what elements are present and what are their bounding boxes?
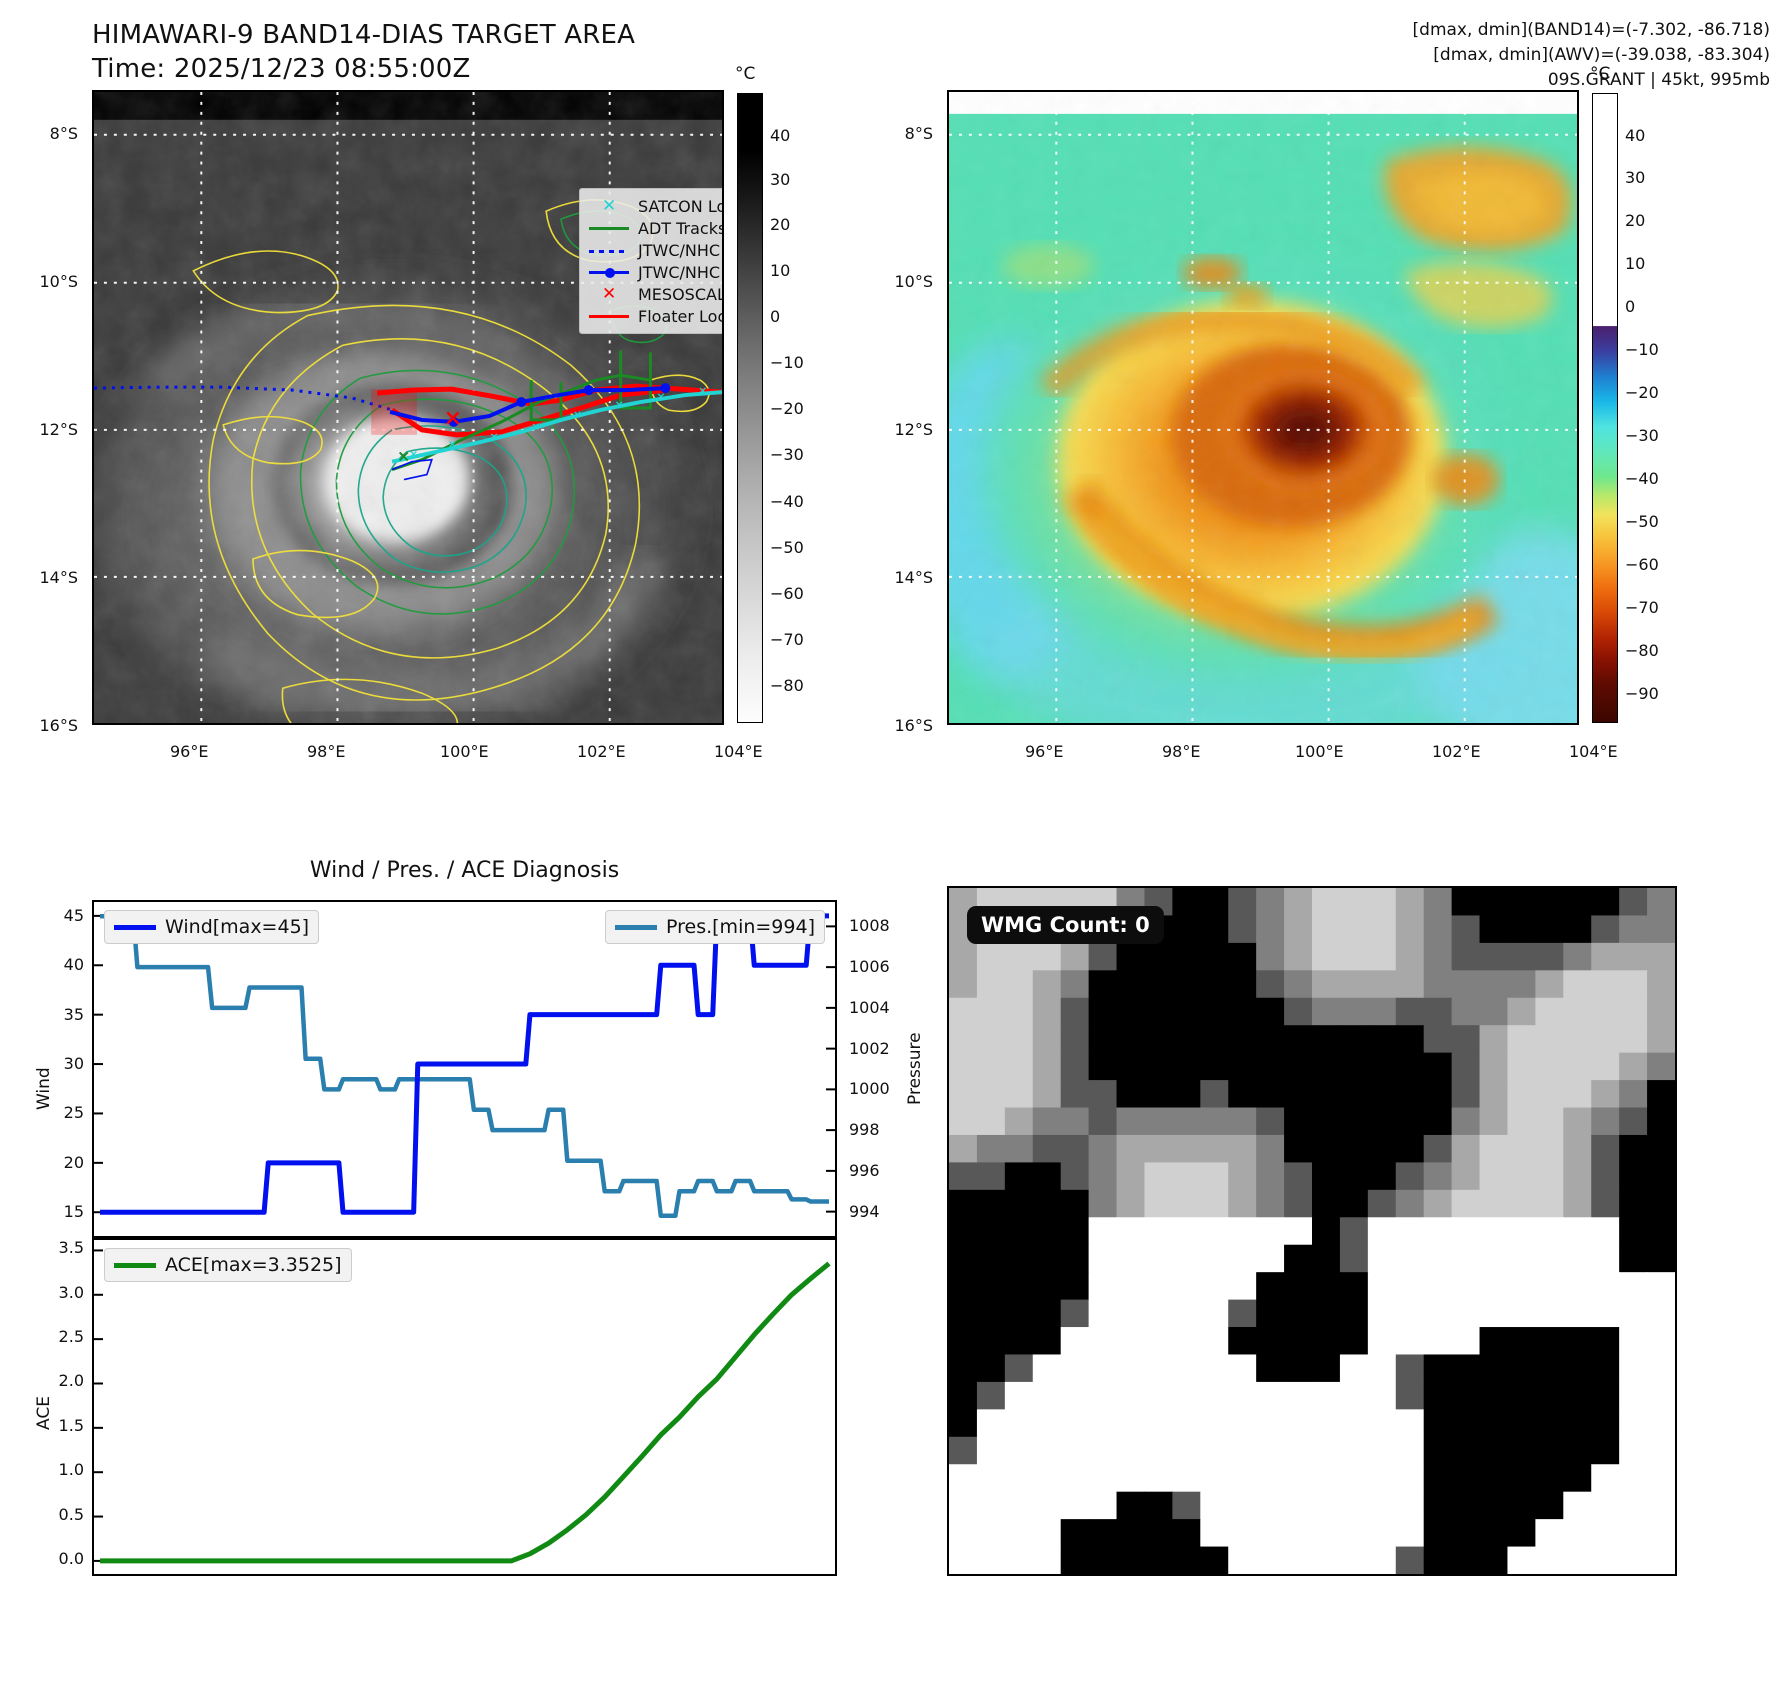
ir-colorbar-unit: °C bbox=[735, 64, 755, 84]
ir-lat-tick-3: 14°S bbox=[20, 568, 78, 587]
ir-cb-tick-5: −10 bbox=[770, 353, 804, 372]
wind-legend-label: Wind[max=45] bbox=[165, 916, 309, 938]
floater-line-icon bbox=[586, 306, 632, 326]
ir-cb-tick-12: −80 bbox=[770, 676, 804, 695]
color-lat-tick-3: 14°S bbox=[875, 568, 933, 587]
pressure-ytick: 996 bbox=[849, 1161, 880, 1180]
ir-image: ××× ××× ×× × × bbox=[94, 92, 722, 723]
ir-lat-tick-4: 16°S bbox=[20, 716, 78, 735]
wind-pressure-chart[interactable]: 15202530354045 Wind[max=45] Pres.[min=99… bbox=[92, 900, 837, 1238]
ir-cb-tick-6: −20 bbox=[770, 399, 804, 418]
color-cb-tick-1: 30 bbox=[1625, 168, 1645, 187]
ace-ytick: 2.0 bbox=[44, 1371, 84, 1390]
color-cb-tick-13: −90 bbox=[1625, 684, 1659, 703]
ir-satellite-panel[interactable]: ××× ××× ×× × × ✕ SATCON Locations [0730Z… bbox=[92, 90, 724, 725]
jtwc-line-dot-icon bbox=[586, 262, 632, 282]
ace-legend[interactable]: ACE[max=3.3525] bbox=[104, 1248, 352, 1282]
pressure-ytick: 994 bbox=[849, 1202, 880, 1221]
color-lon-tick-3: 102°E bbox=[1432, 742, 1481, 761]
ace-chart[interactable]: ACE[max=3.3525] bbox=[92, 1238, 837, 1576]
color-lon-tick-1: 98°E bbox=[1162, 742, 1200, 761]
ir-cb-tick-11: −70 bbox=[770, 630, 804, 649]
color-cb-tick-8: −40 bbox=[1625, 469, 1659, 488]
legend-label-forecast: JTWC/NHC Forecast [23/0000Z] bbox=[638, 241, 724, 260]
legend-row-adt[interactable]: ADT Tracks [0800Z 53.0 993.9] bbox=[586, 217, 724, 239]
legend-label-jtwc-tracks: JTWC/NHC Tracks [23/0600Z] bbox=[638, 263, 724, 282]
svg-text:×: × bbox=[531, 420, 540, 433]
color-lat-tick-2: 12°S bbox=[875, 420, 933, 439]
title-line-1: HIMAWARI-9 BAND14-DIAS TARGET AREA bbox=[92, 18, 852, 52]
ace-legend-label: ACE[max=3.3525] bbox=[165, 1254, 342, 1276]
color-cb-tick-12: −80 bbox=[1625, 641, 1659, 660]
ace-ytick: 3.0 bbox=[44, 1283, 84, 1302]
pressure-axis-label: Pressure bbox=[905, 1032, 925, 1105]
ace-ytick: 3.5 bbox=[44, 1238, 84, 1257]
dmax-dmin-band14: [dmax, dmin](BAND14)=(-7.302, -86.718) bbox=[1413, 18, 1770, 43]
ace-ytick: 0.0 bbox=[44, 1549, 84, 1568]
svg-text:×: × bbox=[397, 447, 410, 466]
pressure-ytick: 998 bbox=[849, 1120, 880, 1139]
color-lon-tick-0: 96°E bbox=[1025, 742, 1063, 761]
pressure-ytick: 1004 bbox=[849, 998, 890, 1017]
color-lon-tick-2: 100°E bbox=[1295, 742, 1344, 761]
dashboard-root: HIMAWARI-9 BAND14-DIAS TARGET AREA Time:… bbox=[0, 0, 1792, 1690]
color-ir-image bbox=[949, 92, 1577, 723]
satcon-x-icon: ✕ bbox=[586, 196, 632, 216]
wind-ytick: 25 bbox=[50, 1103, 84, 1122]
ir-lon-tick-4: 104°E bbox=[714, 742, 763, 761]
ir-lon-tick-2: 100°E bbox=[440, 742, 489, 761]
ace-ytick: 1.5 bbox=[44, 1416, 84, 1435]
wind-ytick: 45 bbox=[50, 906, 84, 925]
ir-lon-tick-3: 102°E bbox=[577, 742, 626, 761]
adt-line-icon bbox=[586, 218, 632, 238]
ir-cb-tick-7: −30 bbox=[770, 445, 804, 464]
svg-text:×: × bbox=[615, 398, 624, 411]
legend-row-forecast[interactable]: JTWC/NHC Forecast [23/0000Z] bbox=[586, 239, 724, 261]
ir-colorbar bbox=[737, 93, 763, 723]
color-cb-tick-4: 0 bbox=[1625, 297, 1635, 316]
wmg-count-badge: WMG Count: 0 bbox=[967, 906, 1164, 944]
ir-cb-tick-4: 0 bbox=[770, 307, 780, 326]
wind-ytick: 40 bbox=[50, 955, 84, 974]
wmg-image bbox=[949, 888, 1675, 1574]
ir-lat-tick-2: 12°S bbox=[20, 420, 78, 439]
ir-lon-tick-0: 96°E bbox=[170, 742, 208, 761]
ir-lat-tick-0: 8°S bbox=[20, 124, 78, 143]
ace-ytick: 1.0 bbox=[44, 1460, 84, 1479]
pressure-ytick: 1002 bbox=[849, 1039, 890, 1058]
ir-lon-tick-1: 98°E bbox=[307, 742, 345, 761]
color-colorbar-unit: °C bbox=[1590, 64, 1610, 84]
color-lat-tick-4: 16°S bbox=[875, 716, 933, 735]
svg-text:×: × bbox=[448, 438, 457, 451]
ir-cb-tick-1: 30 bbox=[770, 170, 790, 189]
wmg-panel[interactable]: WMG Count: 0 bbox=[947, 886, 1677, 1576]
wind-line bbox=[100, 916, 829, 1212]
color-lon-tick-4: 104°E bbox=[1569, 742, 1618, 761]
mesoscale-x-icon: ✕ bbox=[586, 284, 632, 304]
ace-ytick: 0.5 bbox=[44, 1505, 84, 1524]
ir-cb-tick-0: 40 bbox=[770, 126, 790, 145]
ir-cb-tick-3: 10 bbox=[770, 261, 790, 280]
legend-row-satcon[interactable]: ✕ SATCON Locations [0730Z 47 993] bbox=[586, 195, 724, 217]
ace-legend-swatch bbox=[114, 1263, 156, 1268]
legend-row-jtwc-tracks[interactable]: JTWC/NHC Tracks [23/0600Z] bbox=[586, 261, 724, 283]
color-cb-tick-2: 20 bbox=[1625, 211, 1645, 230]
wind-legend[interactable]: Wind[max=45] bbox=[104, 910, 319, 944]
color-cb-tick-9: −50 bbox=[1625, 512, 1659, 531]
legend-row-floater[interactable]: Floater Locater bbox=[586, 305, 724, 327]
color-cb-tick-3: 10 bbox=[1625, 254, 1645, 273]
legend-label-satcon: SATCON Locations [0730Z 47 993] bbox=[638, 197, 724, 216]
pressure-ytick: 1000 bbox=[849, 1079, 890, 1098]
wind-ytick: 35 bbox=[50, 1005, 84, 1024]
ace-ytick: 2.5 bbox=[44, 1327, 84, 1346]
color-lat-tick-0: 8°S bbox=[875, 124, 933, 143]
ir-cb-tick-2: 20 bbox=[770, 215, 790, 234]
ace-line bbox=[100, 1264, 829, 1561]
color-cb-tick-6: −20 bbox=[1625, 383, 1659, 402]
ace-plot-area bbox=[94, 1240, 835, 1574]
wind-pressure-plot-area: 15202530354045 bbox=[94, 902, 835, 1236]
forecast-dotted-icon bbox=[586, 240, 632, 260]
pressure-ytick: 1006 bbox=[849, 957, 890, 976]
legend-label-adt: ADT Tracks [0800Z 53.0 993.9] bbox=[638, 219, 724, 238]
svg-text:×: × bbox=[489, 430, 498, 443]
color-cb-tick-7: −30 bbox=[1625, 426, 1659, 445]
ir-cb-tick-9: −50 bbox=[770, 538, 804, 557]
wind-ytick: 30 bbox=[50, 1054, 84, 1073]
ir-cb-tick-10: −60 bbox=[770, 584, 804, 603]
legend-label-floater: Floater Locater bbox=[638, 307, 724, 326]
color-cb-tick-10: −60 bbox=[1625, 555, 1659, 574]
pressure-legend[interactable]: Pres.[min=994] bbox=[605, 910, 825, 944]
legend-row-mesoscale[interactable]: ✕ MESOSCALE/TARGET Location bbox=[586, 283, 724, 305]
color-enhanced-panel[interactable] bbox=[947, 90, 1579, 725]
svg-text:×: × bbox=[698, 384, 707, 397]
ir-legend: ✕ SATCON Locations [0730Z 47 993] ADT Tr… bbox=[579, 188, 724, 334]
color-cb-tick-0: 40 bbox=[1625, 126, 1645, 145]
pressure-ytick: 1008 bbox=[849, 916, 890, 935]
wind-ytick: 20 bbox=[50, 1153, 84, 1172]
color-lat-tick-1: 10°S bbox=[875, 272, 933, 291]
svg-text:×: × bbox=[573, 408, 582, 421]
color-cb-tick-5: −10 bbox=[1625, 340, 1659, 359]
ir-lat-tick-1: 10°S bbox=[20, 272, 78, 291]
wind-ytick: 15 bbox=[50, 1202, 84, 1221]
mesoscale-target-marker: × bbox=[444, 406, 462, 431]
wind-pres-ace-title: Wind / Pres. / ACE Diagnosis bbox=[92, 858, 837, 883]
color-colorbar bbox=[1592, 93, 1618, 723]
wind-legend-swatch bbox=[114, 925, 156, 930]
legend-label-mesoscale: MESOSCALE/TARGET Location bbox=[638, 285, 724, 304]
pressure-legend-swatch bbox=[615, 925, 657, 930]
pressure-legend-label: Pres.[min=994] bbox=[666, 916, 815, 938]
color-cb-tick-11: −70 bbox=[1625, 598, 1659, 617]
ir-cb-tick-8: −40 bbox=[770, 492, 804, 511]
